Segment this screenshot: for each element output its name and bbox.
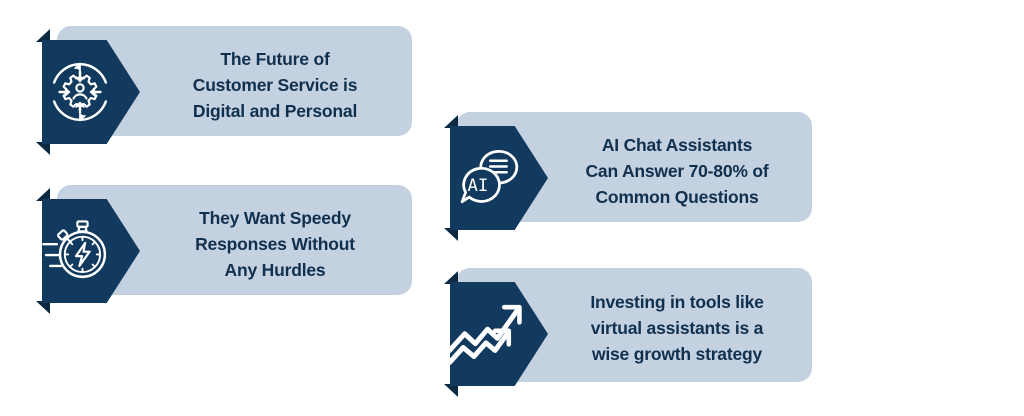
card-text-future-customer-service: The Future of Customer Service is Digita… — [150, 47, 400, 125]
svg-text:AI: AI — [468, 176, 489, 196]
card-text-investing-virtual-assistants: Investing in tools like virtual assistan… — [552, 290, 802, 368]
user-gear-cycle-icon — [46, 58, 114, 126]
growth-arrows-chart-icon — [448, 300, 524, 366]
icon-badge-future-customer-service — [36, 40, 140, 144]
stopwatch-lightning-icon — [42, 217, 110, 285]
icon-badge-ai-chat-assistants: AI — [444, 126, 548, 230]
icon-badge-investing-virtual-assistants — [444, 282, 548, 386]
icon-badge-speedy-responses — [36, 199, 140, 303]
card-text-ai-chat-assistants: AI Chat Assistants Can Answer 70-80% of … — [552, 133, 802, 211]
infographic-canvas: The Future of Customer Service is Digita… — [0, 0, 1024, 416]
card-text-speedy-responses: They Want Speedy Responses Without Any H… — [150, 206, 400, 284]
ai-chat-bubbles-icon: AI — [452, 142, 524, 214]
